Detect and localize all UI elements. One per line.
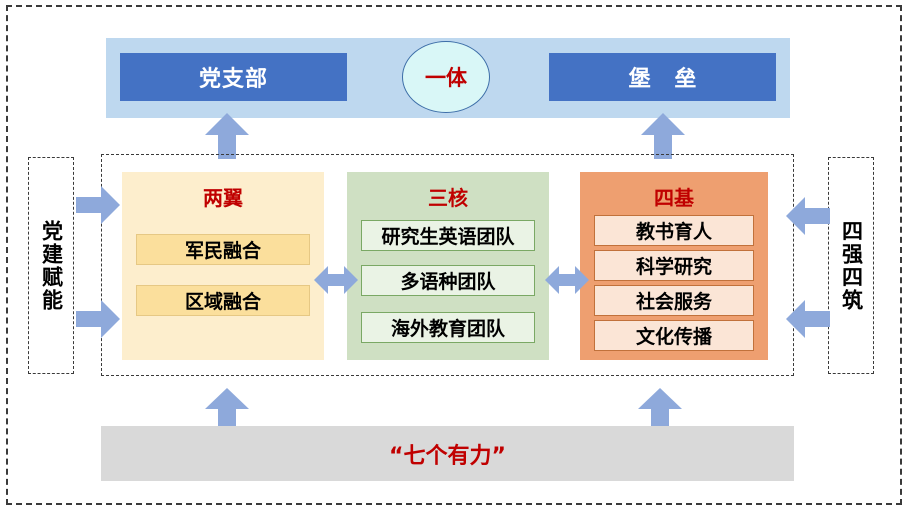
fortress-box[interactable]: 堡 垒	[549, 53, 776, 101]
arrow-left-lower-icon	[786, 300, 830, 338]
arrow-up-bottom-right-icon	[638, 388, 682, 430]
pillar-bases-title: 四基	[580, 182, 768, 211]
pillar-cores-title: 三核	[347, 182, 549, 211]
unity-circle[interactable]: 一体	[402, 41, 490, 113]
pillar-bases-item-3[interactable]: 文化传播	[594, 320, 754, 351]
pillar-cores-item-2[interactable]: 海外教育团队	[361, 312, 535, 343]
pillar-bases-item-2[interactable]: 社会服务	[594, 285, 754, 316]
pillar-wings-item-1[interactable]: 区域融合	[136, 285, 310, 316]
arrow-double-wings-cores-icon	[314, 264, 358, 296]
arrow-double-cores-bases-icon	[545, 264, 589, 296]
bottom-banner-label: “七个有力”	[389, 438, 506, 470]
right-side-label-text: 四强四筑	[841, 220, 862, 312]
left-side-label-box[interactable]: 党建赋能	[28, 157, 74, 374]
arrow-up-left-icon	[205, 113, 249, 159]
diagram-canvas: 党支部 一体 堡 垒 两翼 军民融合 区域融合 三核 研究生英语团队 多语种团队…	[0, 0, 910, 514]
bottom-banner[interactable]: “七个有力”	[101, 426, 794, 481]
pillar-cores[interactable]: 三核 研究生英语团队 多语种团队 海外教育团队	[347, 172, 549, 360]
fortress-label: 堡 垒	[621, 61, 705, 93]
pillar-cores-item-1[interactable]: 多语种团队	[361, 265, 535, 296]
pillar-wings-item-0[interactable]: 军民融合	[136, 234, 310, 265]
right-side-label-box[interactable]: 四强四筑	[828, 157, 874, 374]
pillar-cores-item-0[interactable]: 研究生英语团队	[361, 220, 535, 251]
party-branch-box[interactable]: 党支部	[120, 53, 347, 101]
left-side-label-text: 党建赋能	[41, 220, 62, 312]
pillar-bases-item-0[interactable]: 教书育人	[594, 215, 754, 246]
arrow-left-upper-icon	[786, 197, 830, 235]
arrow-up-right-icon	[641, 113, 685, 159]
unity-circle-label: 一体	[425, 62, 467, 92]
pillar-bases-item-1[interactable]: 科学研究	[594, 250, 754, 281]
arrow-up-bottom-left-icon	[205, 388, 249, 430]
party-branch-label: 党支部	[199, 61, 268, 93]
pillar-wings-title: 两翼	[122, 182, 324, 211]
pillar-wings[interactable]: 两翼 军民融合 区域融合	[122, 172, 324, 360]
arrow-right-upper-icon	[76, 186, 120, 224]
pillar-bases[interactable]: 四基 教书育人 科学研究 社会服务 文化传播	[580, 172, 768, 360]
arrow-right-lower-icon	[76, 300, 120, 338]
